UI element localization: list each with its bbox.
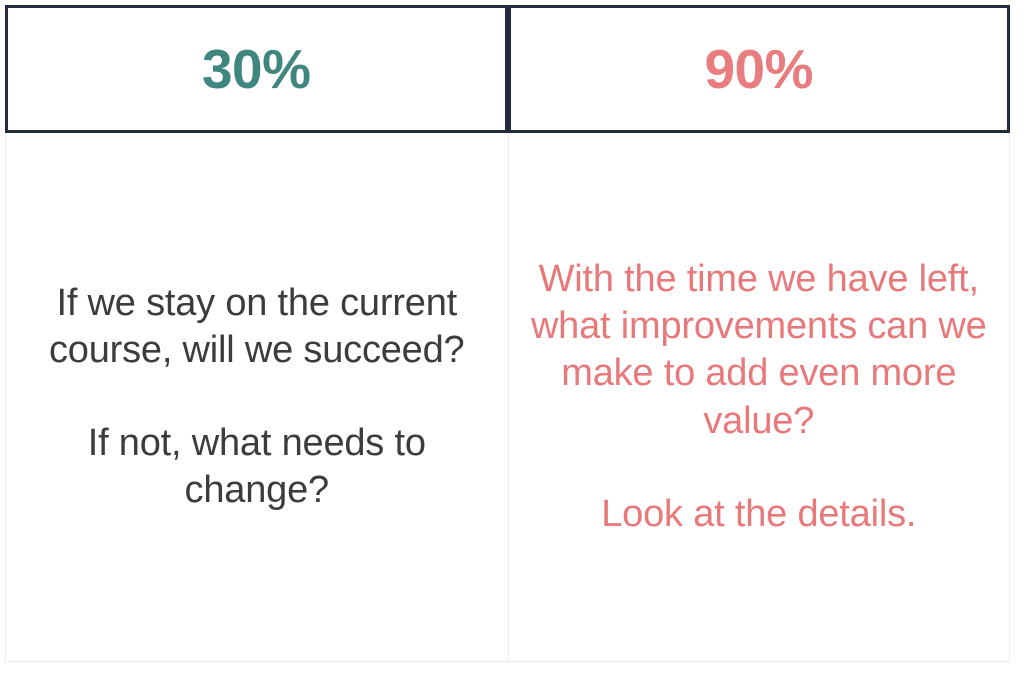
body-cell-30: If we stay on the current course, will w… [5,133,508,662]
table-header-row: 30% 90% [5,5,1010,133]
header-percent-90: 90% [704,42,813,97]
body-paragraph-90-1: With the time we have left, what improve… [531,256,988,444]
header-cell-90: 90% [508,5,1011,133]
body-paragraph-90-2: Look at the details. [601,491,916,538]
comparison-table: 30% 90% If we stay on the current course… [5,5,1010,662]
body-cell-90: With the time we have left, what improve… [508,133,1011,662]
body-cell-90-content: With the time we have left, what improve… [531,256,988,538]
body-paragraph-30-1: If we stay on the current course, will w… [37,280,477,374]
body-paragraph-30-2: If not, what needs to change? [37,420,477,514]
body-cell-30-content: If we stay on the current course, will w… [37,280,477,514]
header-cell-30: 30% [5,5,508,133]
table-body-row: If we stay on the current course, will w… [5,133,1010,662]
header-percent-30: 30% [202,42,311,97]
